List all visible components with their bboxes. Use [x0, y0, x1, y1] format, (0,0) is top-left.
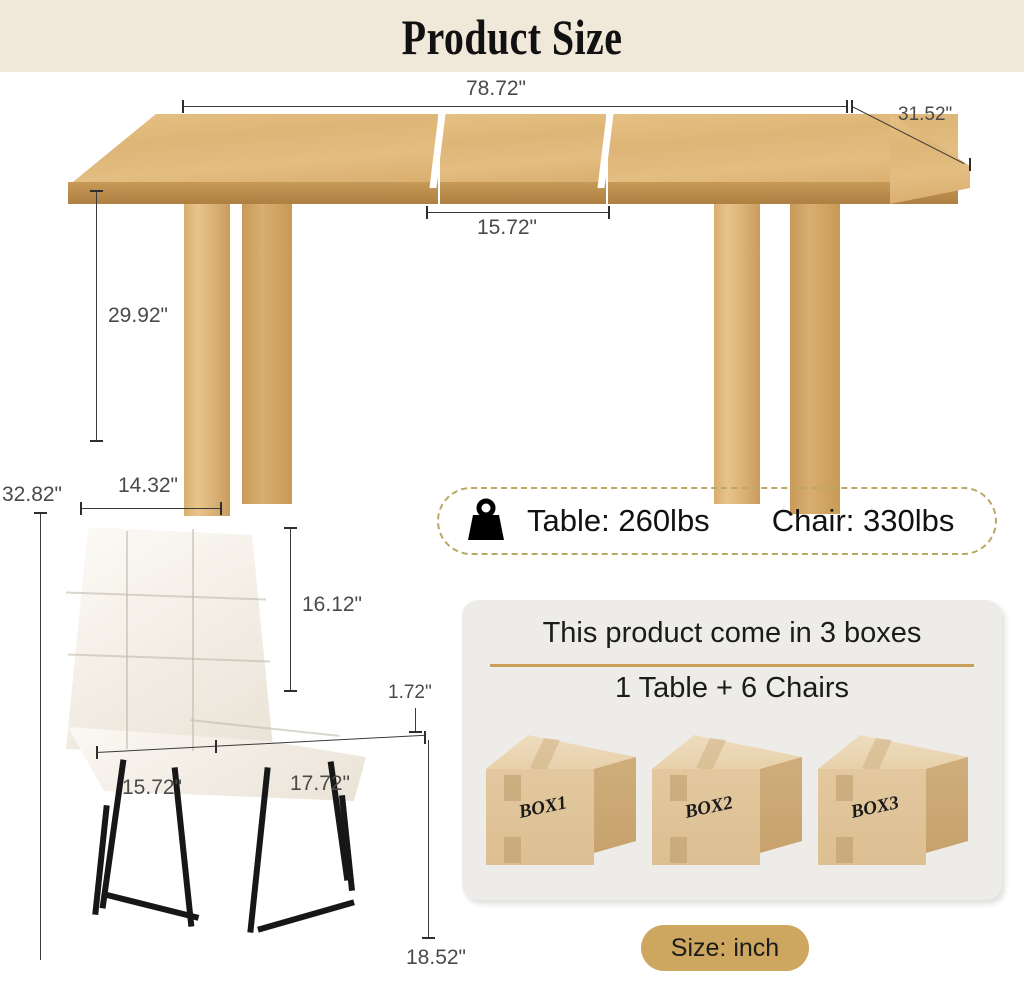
table-leaf-label: 15.72" — [477, 216, 537, 240]
chair-back-width-line — [80, 508, 222, 509]
packaging-divider — [490, 664, 974, 667]
packaging-headline: This product come in 3 boxes — [462, 617, 1002, 650]
unit-badge: Size: inch — [641, 925, 809, 971]
table-leaf-tick-right — [608, 206, 610, 219]
table-illustration: 78.72" 31.52" 15.72" 29.92" — [0, 72, 1024, 472]
table-width-dimension-line — [182, 106, 848, 107]
chair-sled-right — [257, 899, 355, 932]
chair-seat-height-label: 18.52" — [406, 946, 466, 970]
box-2-flap-bottom — [670, 837, 687, 863]
weight-icon — [463, 498, 509, 544]
table-top-left — [68, 114, 438, 186]
weight-chair-label: Chair: 330lbs — [772, 503, 955, 539]
chair-stitch-v1 — [126, 531, 128, 749]
table-edge-leaf — [440, 182, 606, 204]
chair-back-height-label: 16.12" — [302, 593, 362, 617]
chair-back-width-tick-right — [220, 502, 222, 515]
chair-seat-width-label: 15.72" — [122, 776, 182, 800]
table-leaf-dimension-line — [426, 212, 610, 213]
table-width-label: 78.72" — [466, 77, 526, 101]
table-top-leaf — [440, 114, 606, 186]
chair-total-height-line — [40, 512, 41, 960]
chair-back-height-tick-bottom — [284, 690, 297, 692]
chair-illustration — [40, 505, 440, 975]
table-width-tick-left — [182, 100, 184, 113]
chair-seat-depth-label: 17.72" — [290, 772, 350, 796]
table-leg-right-front — [790, 204, 840, 514]
packaging-contents: 1 Table + 6 Chairs — [462, 672, 1002, 705]
box-2-side-face — [760, 757, 802, 853]
chair-stitch-v2 — [192, 529, 194, 751]
box-3-flap-top — [836, 775, 853, 801]
table-depth-label: 31.52" — [898, 104, 952, 126]
table-edge-left — [68, 182, 438, 204]
table-leg-right-back — [714, 204, 760, 504]
table-leaf-tick-left — [426, 206, 428, 219]
weight-table-label: Table: 260lbs — [527, 503, 710, 539]
chair-total-height-label: 32.82" — [2, 483, 62, 507]
chair-seat-thickness-line — [415, 708, 416, 732]
chair-seat-width-tick-right — [424, 731, 426, 744]
chair-seat-height-tick-bottom — [422, 937, 435, 939]
packaging-panel: This product come in 3 boxes 1 Table + 6… — [462, 600, 1002, 900]
chair-back-width-label: 14.32" — [118, 474, 178, 498]
box-2: BOX2 — [652, 735, 802, 865]
table-height-label: 29.92" — [108, 304, 168, 328]
page-title: Product Size — [102, 8, 921, 66]
box-3: BOX3 — [818, 735, 968, 865]
table-height-dimension-line — [96, 190, 97, 442]
chair-seat-thickness-tick — [409, 731, 422, 733]
table-height-tick-top — [90, 190, 103, 192]
table-depth-tick-top — [851, 100, 853, 113]
table-leg-left-front — [242, 204, 292, 504]
chair-back-height-line — [290, 527, 291, 692]
chair-back-width-tick-left — [80, 502, 82, 515]
box-1-flap-bottom — [504, 837, 521, 863]
chair-seat-thickness-label: 1.72" — [388, 682, 432, 704]
chair-total-height-tick-top — [34, 512, 47, 514]
box-3-flap-bottom — [836, 837, 853, 863]
table-leg-left-back — [184, 204, 230, 516]
unit-badge-label: Size: inch — [671, 934, 779, 963]
table-width-tick-right — [846, 100, 848, 113]
weight-capacity-badge: Table: 260lbs Chair: 330lbs — [437, 487, 997, 555]
table-depth-tick-bottom — [969, 158, 971, 171]
chair-back-height-tick-top — [284, 527, 297, 529]
table-height-tick-bottom — [90, 440, 103, 442]
box-1-side-face — [594, 757, 636, 853]
box-3-side-face — [926, 757, 968, 853]
chair-seat-height-line — [428, 740, 429, 938]
box-1: BOX1 — [486, 735, 636, 865]
box-1-flap-top — [504, 775, 521, 801]
chair-seat-width-tick-mid — [215, 740, 217, 753]
box-2-flap-top — [670, 775, 687, 801]
chair-seat-width-tick-left — [96, 746, 98, 759]
